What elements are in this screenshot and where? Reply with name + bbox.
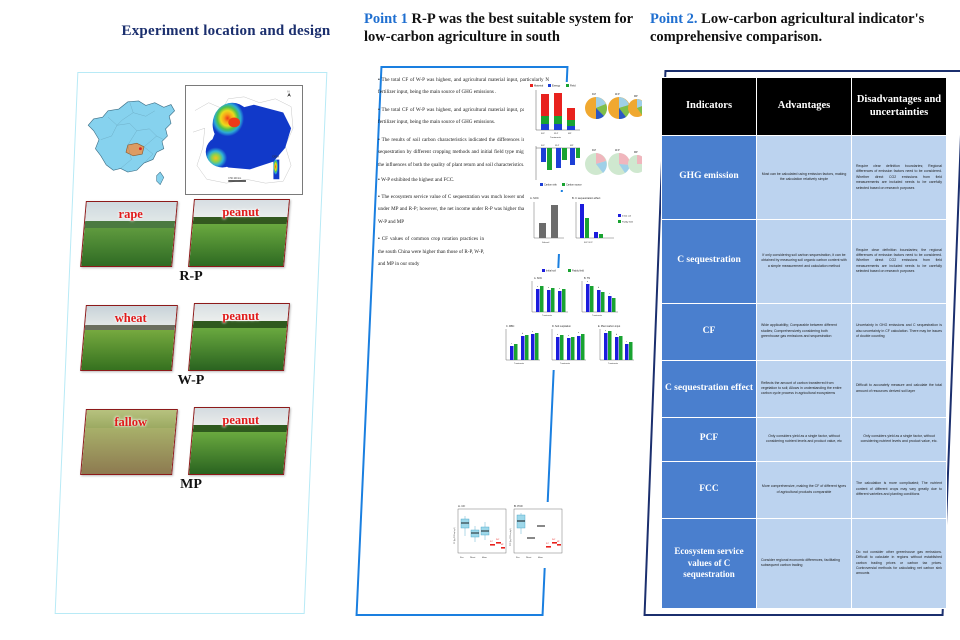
photo-fallow: fallow xyxy=(80,409,178,475)
svg-text:Maize: Maize xyxy=(538,557,543,559)
point2-title: Point 2. Low-carbon agricultural indicat… xyxy=(650,10,950,46)
svg-text:C. MBC: C. MBC xyxy=(506,325,515,328)
indicator-comparison-panel: Indicators Advantages Disadvantages and … xyxy=(644,70,960,616)
svg-text:N: N xyxy=(288,90,290,94)
svg-text:c: c xyxy=(511,343,512,345)
svg-text:c: c xyxy=(626,341,627,343)
svg-text:Initial soil: Initial soil xyxy=(546,270,556,273)
svg-text:Maize: Maize xyxy=(482,557,487,559)
advantages-cell: More comprehensive, making the CF of dif… xyxy=(757,461,852,518)
svg-text:a: a xyxy=(559,288,560,290)
disadvantages-cell: Require clear definition boundaries; Reg… xyxy=(852,136,947,220)
svg-text:W-P: W-P xyxy=(555,145,560,147)
svg-text:PCF (kg CO2-eq kg-1): PCF (kg CO2-eq kg-1) xyxy=(510,528,512,546)
system-label-rp: R-P xyxy=(67,269,315,285)
figure-c-sequestration-shares: R-PW-PMP Carbon sink Carbon source R-PW-… xyxy=(524,140,642,190)
table-row: C sequestration If only considering soil… xyxy=(662,219,947,303)
table-row: C sequestration effect Reflects the amou… xyxy=(662,360,947,417)
system-label-mp: MP xyxy=(67,477,315,493)
svg-text:a: a xyxy=(605,330,606,332)
svg-text:A. SOC: A. SOC xyxy=(530,196,539,200)
svg-text:CF (kg CO2-eq kg-1): CF (kg CO2-eq kg-1) xyxy=(454,527,456,544)
disadvantages-cell: Uncertainty in GHG emissions and C seque… xyxy=(852,303,947,360)
svg-text:b: b xyxy=(598,287,599,289)
figure-cf-pcf-boxplots: A. CFB. PCF R-PW-PMP xyxy=(452,502,568,568)
experiment-design-panel: DEM N 0 50 100 km xyxy=(55,72,328,614)
svg-text:R-P W-P: R-P W-P xyxy=(584,242,593,244)
disadvantages-cell: Require clear definition boundaries; the… xyxy=(852,219,947,303)
poster-canvas: Experiment location and design Point 1 R… xyxy=(0,0,960,640)
indicator-cell: Ecosystem service values of C sequestrat… xyxy=(662,518,757,608)
svg-text:Subsoil: Subsoil xyxy=(542,242,550,244)
photo-caption: rape xyxy=(86,207,176,222)
header-advantages: Advantages xyxy=(757,78,852,136)
svg-text:Rice: Rice xyxy=(460,557,464,559)
disadvantages-cell: The calculation is more complicated; The… xyxy=(852,461,947,518)
svg-text:0 50 100 km: 0 50 100 km xyxy=(228,178,241,180)
svg-text:Field: Field xyxy=(570,84,576,88)
point1-title: Point 1 R-P was the best suitable system… xyxy=(364,10,636,46)
svg-text:Material: Material xyxy=(534,84,544,88)
svg-text:DEM: DEM xyxy=(272,155,279,159)
point1-line2: low-carbon agriculture in south xyxy=(364,28,636,46)
photo-rape: rape xyxy=(80,201,178,267)
svg-text:B. PCF: B. PCF xyxy=(514,504,523,508)
svg-text:Treatments: Treatments xyxy=(608,362,618,365)
svg-text:R-P: R-P xyxy=(541,133,545,135)
photo-caption: peanut xyxy=(194,309,288,324)
header-disadvantages: Disadvantages and uncertainties xyxy=(852,78,947,136)
svg-text:MP: MP xyxy=(634,151,638,154)
svg-text:MP: MP xyxy=(568,133,572,135)
table-row: FCC More comprehensive, making the CF of… xyxy=(662,461,947,518)
point2-line1: Low-carbon agricultural indicator's xyxy=(701,11,924,27)
point1-line1: R-P was the best suitable system for xyxy=(412,11,634,27)
table-row: CF Wide applicability; Comparable betwee… xyxy=(662,303,947,360)
photo-caption: wheat xyxy=(86,311,176,326)
table-row: GHG emission Most can be calculated usin… xyxy=(662,136,947,220)
advantages-cell: Wide applicability; Comparable between d… xyxy=(757,303,852,360)
svg-text:A. SOC: A. SOC xyxy=(534,277,542,280)
province-elevation-map: DEM N 0 50 100 km xyxy=(185,85,303,195)
svg-text:a: a xyxy=(537,286,538,288)
map-figure-row: DEM N 0 50 100 km xyxy=(89,83,303,195)
figure-cf-composition: Material Energy Field R-PW-PMP xyxy=(524,82,642,140)
advantages-cell: Consider regional economic differences, … xyxy=(757,518,852,608)
china-map xyxy=(81,89,189,193)
svg-text:Wheat: Wheat xyxy=(470,556,476,559)
svg-text:Treatments: Treatments xyxy=(514,362,524,365)
svg-text:Initial soil: Initial soil xyxy=(622,214,632,217)
svg-text:Rice: Rice xyxy=(516,557,520,559)
svg-text:Treatments: Treatments xyxy=(560,362,570,365)
svg-text:MP: MP xyxy=(634,95,638,98)
photo-caption: fallow xyxy=(86,415,176,430)
svg-text:Treatments: Treatments xyxy=(542,314,552,317)
svg-text:W-P: W-P xyxy=(554,133,559,135)
svg-text:Treatments: Treatments xyxy=(592,314,602,317)
advantages-cell: Most can be calculated using emission fa… xyxy=(757,136,852,220)
point2-tag: Point 2. xyxy=(650,11,698,27)
disadvantages-cell: Do not consider other greenhouse gas emi… xyxy=(852,518,947,608)
point1-tag: Point 1 xyxy=(364,11,408,27)
svg-text:Carbon sink: Carbon sink xyxy=(544,184,558,187)
photo-peanut-rp: peanut xyxy=(188,199,290,267)
svg-text:Treatments: Treatments xyxy=(550,136,562,139)
photo-peanut-mp: peanut xyxy=(188,407,290,475)
svg-text:Paddy field: Paddy field xyxy=(622,221,634,223)
svg-text:W-P: W-P xyxy=(615,93,620,96)
svg-text:Carbon source: Carbon source xyxy=(566,184,582,187)
indicator-cell: PCF xyxy=(662,417,757,461)
photo-caption: peanut xyxy=(194,413,288,428)
table-row: Ecosystem service values of C sequestrat… xyxy=(662,518,947,608)
advantages-cell: Only considers yield as a single factor,… xyxy=(757,417,852,461)
svg-text:b: b xyxy=(522,333,523,335)
disadvantages-cell: Only considers yield as a single factor,… xyxy=(852,417,947,461)
svg-text:a: a xyxy=(557,334,558,336)
indicator-comparison-table: Indicators Advantages Disadvantages and … xyxy=(661,77,947,609)
svg-text:Paddy field: Paddy field xyxy=(572,270,584,273)
indicator-cell: C sequestration effect xyxy=(662,360,757,417)
indicator-cell: GHG emission xyxy=(662,136,757,220)
svg-text:A. CF: A. CF xyxy=(458,504,465,508)
photo-peanut-wp: peanut xyxy=(188,303,290,371)
indicator-cell: C sequestration xyxy=(662,219,757,303)
svg-text:E. Plant carbon input: E. Plant carbon input xyxy=(598,325,621,328)
svg-text:a: a xyxy=(578,332,579,334)
indicator-cell: CF xyxy=(662,303,757,360)
advantages-cell: If only considering soil carbon sequestr… xyxy=(757,219,852,303)
svg-text:R-P: R-P xyxy=(541,145,545,147)
disadvantages-cell: Difficult to accurately measure and calc… xyxy=(852,360,947,417)
svg-text:B. TN: B. TN xyxy=(584,277,590,280)
table-header-row: Indicators Advantages Disadvantages and … xyxy=(662,78,947,136)
photo-wheat: wheat xyxy=(80,305,178,371)
bullet-item: CF values of common crop rotation practi… xyxy=(378,233,484,270)
figure-soc-and-sequestration-effect: A. SOCB. C sequestration effect Subsoil … xyxy=(524,192,640,254)
svg-text:Energy: Energy xyxy=(552,84,561,88)
advantages-cell: Reflects the amount of carbon transferre… xyxy=(757,360,852,417)
system-label-wp: W-P xyxy=(67,373,315,389)
figure-soil-carbon-panels: Initial soil Paddy field A. SOC aaa Trea… xyxy=(502,268,642,370)
svg-text:W-P: W-P xyxy=(615,149,620,152)
svg-text:MP: MP xyxy=(570,145,574,147)
svg-text:R-P: R-P xyxy=(592,149,597,152)
svg-text:Wheat: Wheat xyxy=(526,556,532,559)
left-section-title: Experiment location and design xyxy=(96,22,356,41)
photo-caption: peanut xyxy=(194,205,288,220)
indicator-cell: FCC xyxy=(662,461,757,518)
svg-text:D. Soil respiration: D. Soil respiration xyxy=(552,325,572,328)
svg-text:c: c xyxy=(609,293,610,295)
svg-text:R-P: R-P xyxy=(592,93,597,96)
svg-text:b: b xyxy=(616,334,617,336)
header-indicators: Indicators xyxy=(662,78,757,136)
point2-line2: comprehensive comparison. xyxy=(650,28,950,46)
svg-text:B. C sequestration effect: B. C sequestration effect xyxy=(572,196,601,200)
svg-text:a: a xyxy=(548,287,549,289)
svg-text:a: a xyxy=(532,331,533,333)
svg-text:a: a xyxy=(587,281,588,283)
table-row: PCF Only considers yield as a single fac… xyxy=(662,417,947,461)
svg-text:a: a xyxy=(568,335,569,337)
